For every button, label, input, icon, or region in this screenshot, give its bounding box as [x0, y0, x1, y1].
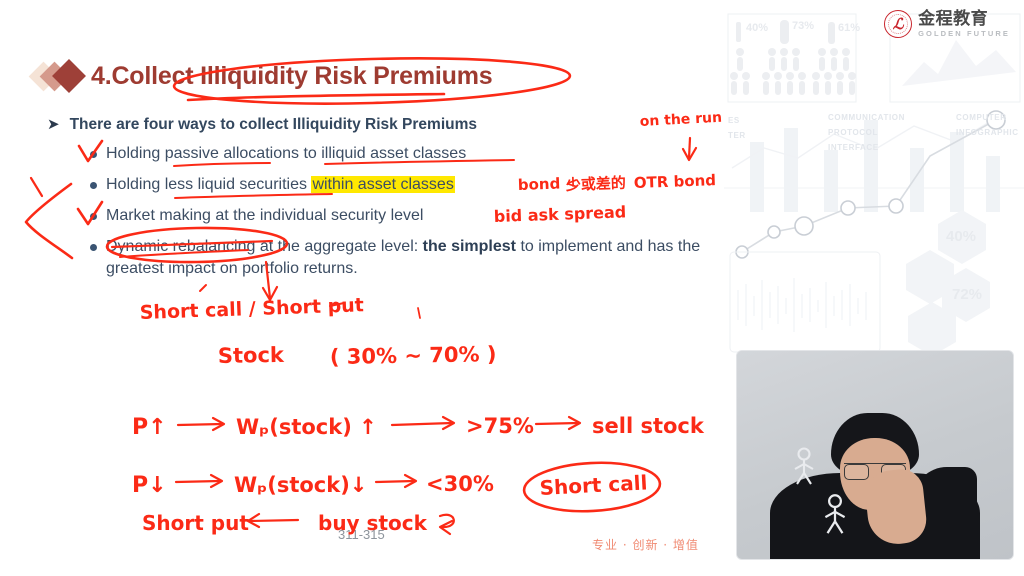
ink-line1-arrow1-head — [213, 418, 224, 430]
bullet-text-1: Holding passive allocations to illiquid … — [106, 143, 466, 165]
ink-short-put-tail — [330, 303, 344, 306]
ink-line1-arrow2-head — [443, 417, 454, 429]
bg-label-communication: COMMUNICATION — [828, 113, 905, 122]
ink-line1-threshold: >75% — [466, 414, 534, 438]
bg-percent-40: 40% — [746, 22, 768, 34]
bullet-list: Holding passive allocations to illiquid … — [90, 143, 710, 289]
bullet-item-4: Dynamic rebalancing at the aggregate lev… — [90, 236, 710, 280]
ink-left-bracket — [26, 184, 72, 258]
ink-short-call-short-put: Short call / Short put — [139, 294, 364, 324]
ink-line1-wp: Wₚ(stock) ↑ — [236, 415, 377, 439]
ink-line1-arrow2 — [392, 423, 452, 425]
bullet-text-3: Market making at the individual security… — [106, 205, 423, 227]
bg-percent-73: 73% — [792, 20, 814, 32]
bullet-dot-icon — [90, 244, 97, 251]
footer-slogan: 专业 · 创新 · 增值 — [592, 536, 699, 553]
ink-line1-arrow3-head — [569, 417, 580, 429]
bullet-text-2: Holding less liquid securities within as… — [106, 174, 455, 196]
bullet-4-bold: the simplest — [423, 238, 516, 255]
ink-tick-small — [31, 178, 42, 196]
ink-line3-short-put: Short put — [142, 511, 249, 535]
bg-percent-72: 72% — [952, 286, 982, 303]
background-infographic-svg — [724, 0, 1024, 360]
bullet-2-highlight: within asset classes — [311, 176, 454, 193]
diamond-bullet-icon — [33, 58, 91, 94]
ink-line3-arrow-left — [250, 520, 298, 521]
bullet-dot-icon — [90, 151, 97, 158]
ink-line2-arrow1 — [176, 481, 220, 482]
bullet-item-3: Market making at the individual security… — [90, 205, 710, 227]
brand-logo: ℒ 金程教育 GOLDEN FUTURE — [884, 10, 1010, 38]
ink-line3-arrow-left-head — [248, 514, 259, 527]
bullet-dot-icon — [90, 182, 97, 189]
bullet-dot-icon — [90, 213, 97, 220]
bullet-4-pre: Dynamic rebalancing at the aggregate lev… — [106, 238, 423, 255]
bg-percent-40b: 40% — [946, 228, 976, 245]
slide-canvas: ES TER COMMUNICATION PROTOCOL INTERFACE … — [0, 0, 1024, 576]
ink-short-call-circle — [523, 459, 661, 514]
ink-line2-p-down: P↓ — [132, 473, 167, 498]
lead-text: There are four ways to collect Illiquidi… — [70, 115, 477, 135]
bullet-item-1: Holding passive allocations to illiquid … — [90, 143, 710, 165]
bg-label-protocol: PROTOCOL — [828, 128, 878, 137]
bullet-item-2: Holding less liquid securities within as… — [90, 174, 710, 196]
slide-title-row: 4.Collect Illiquidity Risk Premiums — [33, 58, 492, 94]
ink-stock-range: ( 30% ~ 70% ) — [330, 342, 497, 369]
page-title: 4.Collect Illiquidity Risk Premiums — [91, 62, 492, 91]
ink-stock-label: Stock — [218, 343, 285, 368]
page-number: 311-315 — [338, 527, 385, 542]
ink-title-underline — [188, 94, 444, 100]
logo-seal-icon: ℒ — [884, 10, 912, 38]
logo-chinese-name: 金程教育 — [918, 11, 1010, 28]
bg-label-ter: TER — [728, 131, 746, 140]
background-infographic: ES TER COMMUNICATION PROTOCOL INTERFACE … — [724, 0, 1024, 360]
ink-line3-loop-arrow — [440, 515, 454, 527]
ink-line3-loop-arrowhead — [440, 521, 452, 534]
stickman-graphic-icon — [789, 447, 819, 487]
stickman-graphic-icon — [819, 493, 851, 537]
ink-line1-arrow1 — [178, 424, 222, 425]
ink-line2-arrow2-head — [405, 475, 416, 487]
ink-line2-wp: Wₚ(stock)↓ — [234, 473, 367, 497]
bg-label-es: ES — [728, 116, 740, 125]
bullet-2-pre: Holding less liquid securities — [106, 176, 311, 193]
bg-label-interface: INTERFACE — [828, 143, 879, 152]
bg-label-computer: COMPUTER — [956, 113, 1007, 122]
webcam-thumbnail[interactable] — [737, 351, 1013, 559]
ink-line1-arrow3 — [536, 423, 578, 424]
ink-line2-arrow2 — [376, 481, 414, 482]
ink-line2-arrow1-head — [211, 475, 222, 487]
bg-percent-61: 61% — [838, 22, 860, 34]
ink-line1-p-up: P↑ — [132, 415, 167, 440]
lead-line: ➤ There are four ways to collect Illiqui… — [47, 115, 477, 135]
ink-line1-action: sell stock — [592, 414, 705, 438]
ink-caret-mark — [418, 308, 420, 318]
ink-short-call-text: Short call — [539, 470, 648, 500]
ink-line2-threshold: <30% — [426, 472, 494, 496]
logo-english-name: GOLDEN FUTURE — [918, 30, 1010, 38]
ink-on-the-run: on the run — [639, 110, 722, 130]
bg-label-infographic: INFOGRAPHIC — [956, 128, 1019, 137]
bullet-text-4: Dynamic rebalancing at the aggregate lev… — [106, 236, 706, 280]
arrow-right-icon: ➤ — [47, 115, 60, 135]
